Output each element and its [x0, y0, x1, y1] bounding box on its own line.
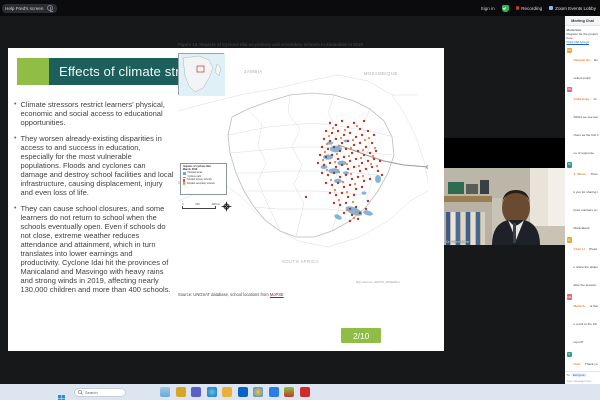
- list-item: CL Chen Li Please share the slides after…: [567, 237, 599, 291]
- list-item: AG Anita Gray At SDG4 we see teachers as…: [567, 87, 599, 159]
- legend-label: Flooded secondary schools: [187, 183, 215, 185]
- outlook-icon[interactable]: [238, 387, 248, 397]
- scalebar-rule: [182, 206, 216, 209]
- zimbabwe-cyclone-map: ZAMBIA MOZAMBIQUE BOTSWANA SOUTH AFRICA: [178, 51, 428, 289]
- top-bar-left: Help Fred's screen: [0, 4, 57, 13]
- recipient-selector[interactable]: Everyone: [571, 373, 587, 377]
- svg-text:ZAMBIA: ZAMBIA: [244, 69, 263, 74]
- figure-caption: Figure 10. Impacts of Cyclone Idai on pr…: [178, 42, 428, 48]
- page-number-badge: 2/10: [341, 328, 381, 343]
- message-text: Is there a link to the full report?: [574, 304, 599, 344]
- taskbar-search[interactable]: Search: [74, 388, 126, 397]
- meeting-chat-panel: Meeting Chat Moderator Register for the …: [565, 16, 600, 384]
- bullet-dot-icon: •: [14, 100, 16, 127]
- map-legend: Impacts of cyclone Idai March, 2019 Floo…: [180, 163, 227, 195]
- message-author: Chen Li: [574, 247, 585, 251]
- file-explorer-icon[interactable]: [176, 387, 186, 397]
- top-bar-right: Sign in Recording Zoom Events Lobby: [481, 5, 600, 12]
- avatar: HH: [567, 48, 573, 54]
- legend-item: Flooded primary schools: [183, 179, 224, 181]
- acrobat-icon[interactable]: [300, 387, 310, 397]
- chat-input[interactable]: Type message here...: [567, 379, 599, 383]
- chat-recipient-row[interactable]: To: Everyone: [567, 373, 599, 377]
- figure-source: Source: UNOSAT database, school location…: [178, 292, 428, 297]
- message-author: Maria S.: [574, 304, 586, 308]
- message-text: Please share the slides after the sessio…: [574, 247, 598, 287]
- office-icon[interactable]: [284, 387, 294, 397]
- screen-root: Help Fred's screen Sign in Recording Zoo…: [0, 0, 600, 400]
- slide-bullet-list: • Climate stressors restrict learners' p…: [14, 100, 174, 301]
- map-inset-locator: [178, 53, 224, 95]
- zoom-events-icon: [549, 6, 553, 10]
- list-item: Moderator Register for the project here:…: [567, 28, 599, 45]
- bullet-dot-icon: •: [14, 204, 16, 294]
- legend-swatch-primary-schools: [183, 179, 185, 181]
- africa-inset-graphic: [179, 54, 225, 96]
- widgets-icon[interactable]: [160, 387, 170, 397]
- source-prefix: Source: UNOSAT database, school location…: [178, 292, 270, 297]
- avatar: MS: [567, 294, 573, 300]
- legend-swatch-secondary-schools: [183, 182, 185, 184]
- scalebar-min: 0: [182, 203, 183, 206]
- bullet-text: Climate stressors restrict learners' phy…: [20, 100, 174, 127]
- participant-name-label: Dr. Albert Mabe: [446, 240, 469, 244]
- chat-panel-header: Meeting Chat: [565, 16, 600, 26]
- legend-swatch-cyclone-path: [183, 177, 186, 178]
- screen-share-status-pill[interactable]: Help Fred's screen: [2, 4, 57, 13]
- recording-label: Recording: [521, 6, 542, 11]
- bullet-dot-icon: •: [14, 134, 16, 197]
- bullet-text: They can cause school closures, and some…: [20, 204, 174, 294]
- meeting-name[interactable]: Zoom Events Lobby: [549, 6, 596, 11]
- north-arrow-icon: [221, 199, 232, 210]
- share-label: Help Fred's screen: [5, 6, 43, 11]
- zoom-icon[interactable]: [269, 387, 279, 397]
- message-link[interactable]: https://bit.ly/regx: [567, 40, 590, 44]
- security-shield-icon[interactable]: [502, 5, 509, 12]
- windows-start-icon[interactable]: [58, 389, 65, 396]
- message-text: Register for the project here:: [567, 32, 599, 40]
- legend-item: Flooded secondary schools: [183, 182, 224, 184]
- list-item: • They can cause school closures, and so…: [14, 204, 174, 294]
- message-author: Hannah Ho: [574, 58, 590, 62]
- slide-figure: Figure 10. Impacts of Cyclone Idai on pr…: [178, 42, 428, 305]
- avatar: AG: [567, 87, 573, 93]
- edge-icon[interactable]: [207, 387, 217, 397]
- bullet-text: They worsen already-existing disparities…: [20, 134, 174, 197]
- shared-screen-stage: Effects of climate stressors on educatio…: [0, 16, 565, 384]
- list-item: HH Hannah Ho Excellent point!: [567, 48, 599, 84]
- to-label: To:: [567, 373, 571, 377]
- recording-indicator[interactable]: Recording: [516, 6, 542, 11]
- legend-label: Flooded areas: [188, 172, 203, 174]
- screen-share-icon: [47, 5, 53, 11]
- meeting-name-label: Zoom Events Lobby: [555, 6, 596, 11]
- participant-video-tile[interactable]: Dr. Albert Mabe: [444, 138, 565, 245]
- svg-text:MOZAMBIQUE: MOZAMBIQUE: [364, 71, 398, 76]
- list-item: • Climate stressors restrict learners' p…: [14, 100, 174, 127]
- map-scalebar: 0 100 200 km: [182, 203, 220, 210]
- avatar: H: [567, 352, 573, 358]
- legend-item: Cyclone path: [183, 176, 224, 179]
- sign-in-button[interactable]: Sign in: [481, 6, 495, 11]
- message-author: Anita Gray: [574, 97, 590, 101]
- message-author: J. Okoro: [574, 172, 587, 176]
- search-placeholder: Search: [85, 390, 98, 395]
- list-item: JO J. Okoro Thank you for sharing these …: [567, 162, 599, 234]
- avatar: CL: [567, 237, 573, 243]
- avatar: JO: [567, 162, 573, 168]
- scalebar-mid: 100: [195, 203, 199, 206]
- scalebar-max: 200 km: [211, 203, 220, 206]
- chat-message-list[interactable]: Moderator Register for the project here:…: [565, 26, 600, 384]
- svg-text:Map reference: ISM/TP1_2004E00: Map reference: ISM/TP1_2004E000-1: [356, 280, 400, 284]
- webcam-video-feed: [444, 168, 565, 245]
- title-accent-bar: [17, 58, 49, 85]
- svg-text:SOUTH AFRICA: SOUTH AFRICA: [282, 259, 319, 264]
- legend-label: Cyclone path: [188, 176, 201, 178]
- list-item: MS Maria S. Is there a link to the full …: [567, 294, 599, 348]
- message-author: Host: [574, 362, 581, 366]
- chat-composer: To: Everyone Type message here...: [565, 371, 600, 385]
- search-icon: [78, 390, 83, 395]
- legend-label: Flooded primary schools: [187, 179, 212, 181]
- message-text: Thank you for sharing these numbers on M…: [574, 172, 599, 230]
- legend-subtitle: March, 2019: [183, 168, 224, 171]
- source-link[interactable]: MoPSE: [270, 292, 284, 297]
- taskbar-pinned-apps: [160, 387, 310, 397]
- zoom-top-bar: Help Fred's screen Sign in Recording Zoo…: [0, 0, 600, 16]
- chrome-icon[interactable]: [253, 387, 263, 397]
- folder-icon[interactable]: [222, 387, 232, 397]
- record-dot-icon: [516, 6, 520, 10]
- teams-icon[interactable]: [191, 387, 201, 397]
- legend-item: Flooded areas: [183, 172, 224, 174]
- list-item: • They worsen already-existing dispariti…: [14, 134, 174, 197]
- message-text: At SDG4 we see teachers as the first lin…: [574, 97, 599, 155]
- legend-swatch-flooded-areas: [183, 172, 186, 174]
